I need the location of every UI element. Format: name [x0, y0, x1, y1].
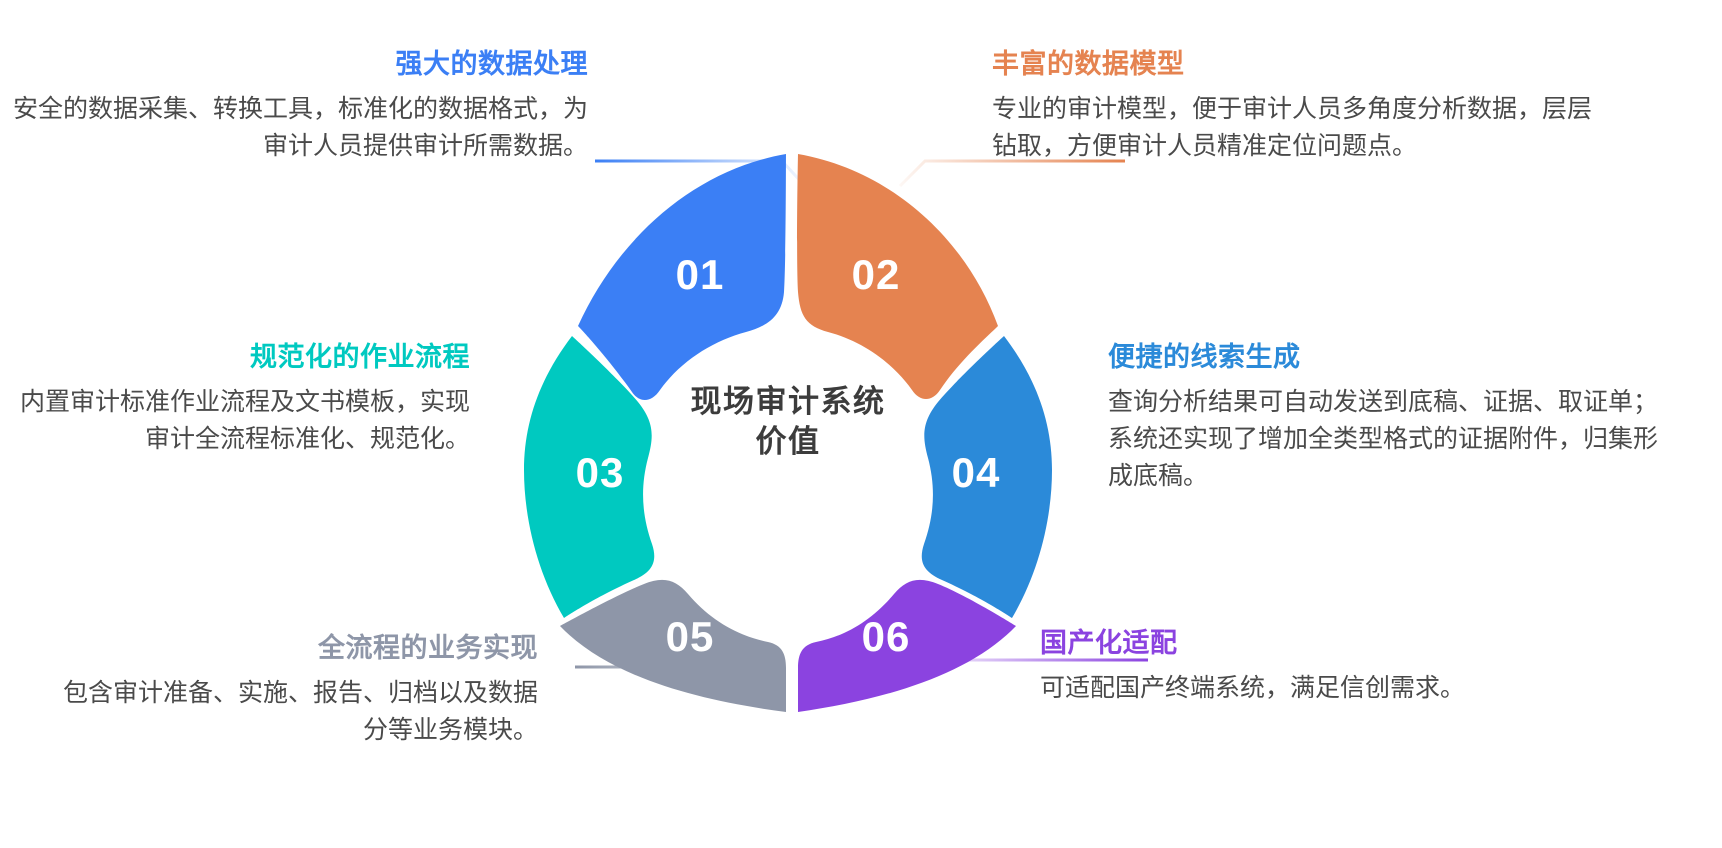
callout-02-title: 丰富的数据模型 [992, 48, 1592, 82]
donut-wheel: 01 02 03 04 05 06 现场审计系统 价值 [468, 140, 1108, 720]
center-label-line1: 现场审计系统 [691, 384, 886, 419]
callout-03-body: 内置审计标准作业流程及文书模板，实现审计全流程标准化、规范化。 [20, 384, 470, 458]
segment-03-number: 03 [576, 449, 625, 496]
segment-02[interactable]: 02 [797, 154, 998, 399]
center-label-line2: 价值 [756, 424, 821, 459]
callout-06[interactable]: 国产化适配 可适配国产终端系统，满足信创需求。 [1040, 627, 1660, 707]
callout-01-title: 强大的数据处理 [8, 48, 588, 82]
callout-04-title: 便捷的线索生成 [1108, 341, 1680, 375]
segment-02-number: 02 [852, 251, 901, 298]
callout-02-body: 专业的审计模型，便于审计人员多角度分析数据，层层钻取，方便审计人员精准定位问题点… [992, 91, 1592, 165]
callout-02[interactable]: 丰富的数据模型 专业的审计模型，便于审计人员多角度分析数据，层层钻取，方便审计人… [992, 48, 1592, 165]
callout-06-title: 国产化适配 [1040, 627, 1660, 661]
callout-05[interactable]: 全流程的业务实现 包含审计准备、实施、报告、归档以及数据分等业务模块。 [48, 632, 538, 749]
callout-04[interactable]: 便捷的线索生成 查询分析结果可自动发送到底稿、证据、取证单；系统还实现了增加全类… [1108, 341, 1680, 495]
center-label: 现场审计系统 价值 [691, 384, 886, 459]
callout-05-body: 包含审计准备、实施、报告、归档以及数据分等业务模块。 [48, 675, 538, 749]
segment-06-number: 06 [862, 613, 911, 660]
segment-04-number: 04 [952, 449, 1001, 496]
callout-04-body: 查询分析结果可自动发送到底稿、证据、取证单；系统还实现了增加全类型格式的证据附件… [1108, 384, 1680, 495]
callout-01-body: 安全的数据采集、转换工具，标准化的数据格式，为审计人员提供审计所需数据。 [8, 91, 588, 165]
diagram-canvas: 01 02 03 04 05 06 现场审计系统 价值 [0, 0, 1722, 848]
segment-01-number: 01 [676, 251, 725, 298]
segment-05-number: 05 [666, 613, 715, 660]
segment-01[interactable]: 01 [578, 154, 786, 400]
callout-06-body: 可适配国产终端系统，满足信创需求。 [1040, 670, 1660, 707]
callout-05-title: 全流程的业务实现 [48, 632, 538, 666]
callout-03-title: 规范化的作业流程 [20, 341, 470, 375]
callout-01[interactable]: 强大的数据处理 安全的数据采集、转换工具，标准化的数据格式，为审计人员提供审计所… [8, 48, 588, 165]
callout-03[interactable]: 规范化的作业流程 内置审计标准作业流程及文书模板，实现审计全流程标准化、规范化。 [20, 341, 470, 458]
